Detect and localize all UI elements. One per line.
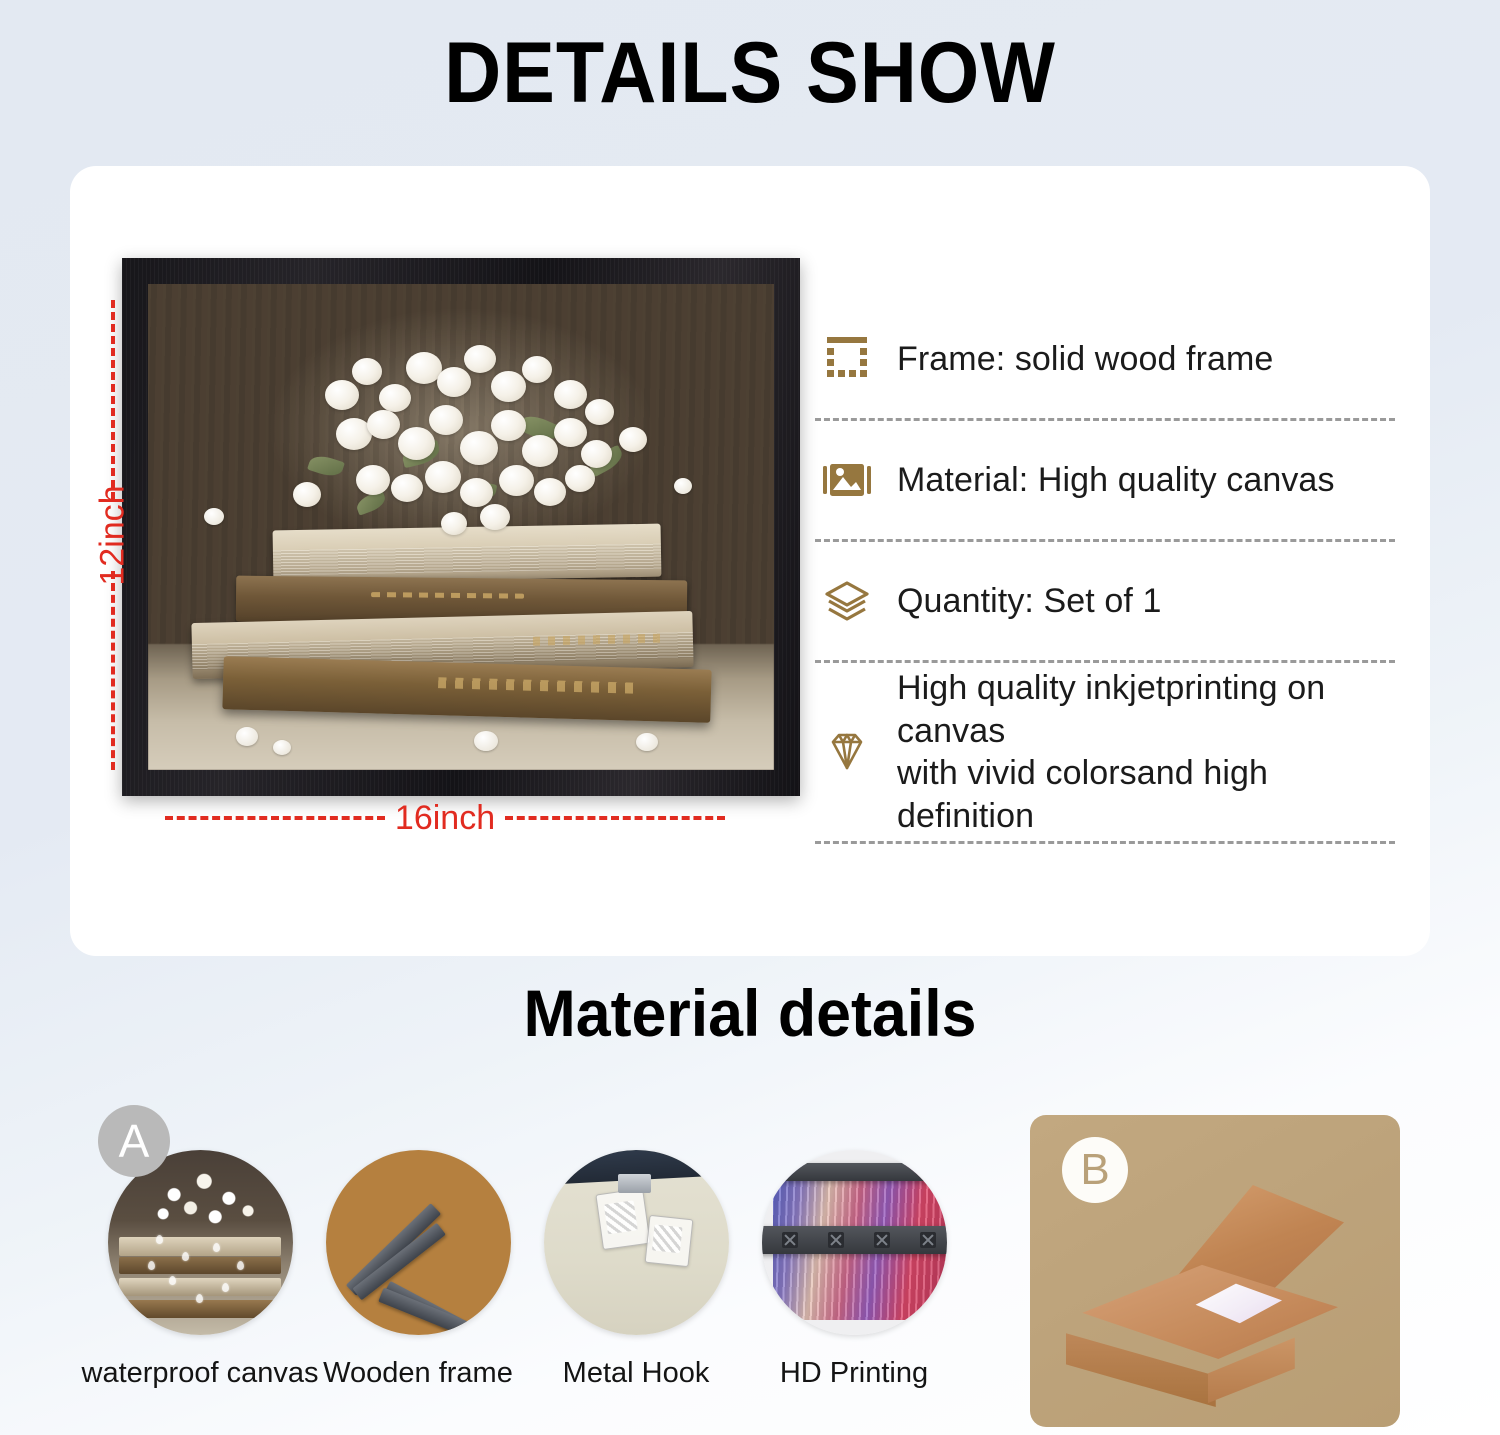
material-item-hd-printing: HD Printing (754, 1150, 954, 1390)
page-title: DETAILS SHOW (60, 28, 1440, 118)
width-dimension-label: 16inch (395, 799, 495, 838)
material-item-metal-hook: Metal Hook (536, 1150, 736, 1390)
hd-printing-thumbnail (762, 1150, 947, 1335)
canvas-thumbnail (108, 1150, 293, 1335)
material-label-wooden-frame: Wooden frame (323, 1357, 513, 1390)
width-dimension-guide: 16inch (165, 798, 725, 838)
specification-list: Frame: solid wood frame Material: High q… (815, 300, 1395, 844)
height-dimension-label: 12inch (86, 485, 141, 585)
spec-printing-line2: with vivid colorsand high definition (897, 752, 1395, 837)
spec-row-material: Material: High quality canvas (815, 421, 1395, 539)
material-thumbnail-list: waterproof canvas Wooden frame Metal Hoo… (100, 1150, 1000, 1390)
layers-icon (815, 577, 879, 625)
wood-frame-thumbnail (326, 1150, 511, 1335)
width-guide-dash-left (165, 816, 385, 820)
spec-row-quantity: Quantity: Set of 1 (815, 542, 1395, 660)
section-title-material-details: Material details (38, 975, 1463, 1051)
height-guide-dash-top (111, 300, 115, 500)
diamond-icon (815, 728, 879, 776)
spec-label-quantity: Quantity: Set of 1 (897, 580, 1162, 623)
spec-printing-line1: High quality inkjetprinting on canvas (897, 667, 1395, 752)
spec-label-frame: Frame: solid wood frame (897, 338, 1273, 381)
image-icon (815, 456, 879, 504)
spec-label-printing: High quality inkjetprinting on canvas wi… (897, 667, 1395, 837)
metal-hook-thumbnail (544, 1150, 729, 1335)
spec-row-frame: Frame: solid wood frame (815, 300, 1395, 418)
box-top (1066, 1263, 1338, 1359)
frame-icon (815, 335, 879, 383)
badge-b: B (1062, 1137, 1128, 1203)
width-guide-dash-right (505, 816, 725, 820)
white-flower-cluster (286, 333, 674, 547)
printer-carriage-bar (762, 1226, 947, 1254)
spec-row-printing: High quality inkjetprinting on canvas wi… (815, 663, 1395, 841)
badge-a: A (98, 1105, 170, 1177)
material-label-hd-printing: HD Printing (780, 1357, 928, 1390)
material-item-waterproof-canvas: waterproof canvas (100, 1150, 300, 1390)
material-item-wooden-frame: Wooden frame (318, 1150, 518, 1390)
cardboard-mailer-box (1058, 1185, 1374, 1415)
spec-separator-4 (815, 841, 1395, 844)
material-label-metal-hook: Metal Hook (563, 1357, 710, 1390)
height-guide-dash-bottom (111, 571, 115, 771)
height-dimension-guide: 12inch (96, 300, 130, 770)
spec-label-material: Material: High quality canvas (897, 459, 1335, 502)
canvas-print-image (148, 284, 774, 770)
framed-artwork (122, 258, 800, 796)
packaging-panel: B (1030, 1115, 1400, 1427)
material-label-waterproof-canvas: waterproof canvas (82, 1357, 319, 1390)
